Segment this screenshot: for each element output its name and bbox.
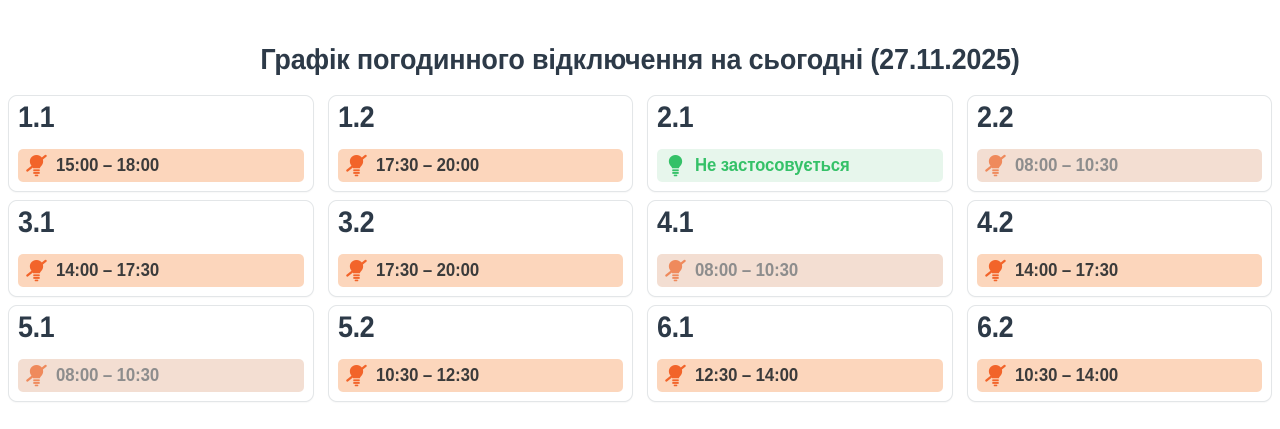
group-label: 3.1 — [18, 208, 275, 244]
outage-group-card[interactable]: 4.108:00 – 10:30 — [647, 200, 953, 297]
bulb-off-icon — [26, 364, 47, 387]
bulb-off-icon — [346, 154, 367, 177]
bulb-off-icon — [346, 364, 367, 387]
bulb-off-icon — [985, 364, 1006, 387]
group-label: 6.2 — [977, 313, 1234, 349]
outage-group-card[interactable]: 1.217:30 – 20:00 — [328, 95, 634, 192]
bulb-off-icon — [665, 364, 686, 387]
outage-group-card[interactable]: 2.208:00 – 10:30 — [967, 95, 1273, 192]
outage-time-text: 12:30 – 14:00 — [695, 366, 798, 384]
bulb-off-icon — [985, 259, 1006, 282]
outage-group-card[interactable]: 6.112:30 – 14:00 — [647, 305, 953, 402]
outage-time-text: 10:30 – 12:30 — [376, 366, 479, 384]
group-label: 1.2 — [338, 103, 595, 139]
bulb-off-icon — [665, 259, 686, 282]
outage-time-text: 08:00 – 10:30 — [695, 261, 798, 279]
group-label: 3.2 — [338, 208, 595, 244]
outage-group-card[interactable]: 5.210:30 – 12:30 — [328, 305, 634, 402]
outage-slot[interactable]: 17:30 – 20:00 — [338, 149, 624, 182]
bulb-off-icon — [346, 259, 367, 282]
outage-time-text: 08:00 – 10:30 — [1015, 156, 1118, 174]
outage-group-card[interactable]: 1.115:00 – 18:00 — [8, 95, 314, 192]
bulb-on-icon — [665, 154, 686, 177]
outage-time-text: 17:30 – 20:00 — [376, 261, 479, 279]
bulb-off-icon — [26, 154, 47, 177]
outage-slot[interactable]: 14:00 – 17:30 — [18, 254, 304, 287]
outage-slot[interactable]: 12:30 – 14:00 — [657, 359, 943, 392]
group-label: 5.1 — [18, 313, 275, 349]
outage-time-text: 15:00 – 18:00 — [56, 156, 159, 174]
bulb-off-icon — [985, 154, 1006, 177]
outage-slot[interactable]: 10:30 – 12:30 — [338, 359, 624, 392]
outage-group-card[interactable]: 2.1Не застосовується — [647, 95, 953, 192]
group-label: 5.2 — [338, 313, 595, 349]
outage-time-text: 10:30 – 14:00 — [1015, 366, 1118, 384]
outage-slot[interactable]: 15:00 – 18:00 — [18, 149, 304, 182]
outage-slot[interactable]: 08:00 – 10:30 — [657, 254, 943, 287]
outage-group-card[interactable]: 3.114:00 – 17:30 — [8, 200, 314, 297]
outage-group-card[interactable]: 4.214:00 – 17:30 — [967, 200, 1273, 297]
outage-slot[interactable]: 10:30 – 14:00 — [977, 359, 1263, 392]
group-label: 4.1 — [657, 208, 914, 244]
page-title: Графік погодинного відключення на сьогод… — [45, 19, 1235, 75]
group-label: 6.1 — [657, 313, 914, 349]
outage-slot[interactable]: Не застосовується — [657, 149, 943, 182]
outage-time-text: 17:30 – 20:00 — [376, 156, 479, 174]
outage-group-card[interactable]: 5.108:00 – 10:30 — [8, 305, 314, 402]
outage-time-text: Не застосовується — [695, 156, 850, 174]
outage-time-text: 14:00 – 17:30 — [1015, 261, 1118, 279]
group-label: 1.1 — [18, 103, 275, 139]
group-label: 2.1 — [657, 103, 914, 139]
outage-groups-grid: 1.115:00 – 18:001.217:30 – 20:002.1Не за… — [0, 95, 1280, 402]
outage-group-card[interactable]: 3.217:30 – 20:00 — [328, 200, 634, 297]
outage-slot[interactable]: 14:00 – 17:30 — [977, 254, 1263, 287]
outage-slot[interactable]: 17:30 – 20:00 — [338, 254, 624, 287]
group-label: 2.2 — [977, 103, 1234, 139]
outage-time-text: 14:00 – 17:30 — [56, 261, 159, 279]
outage-group-card[interactable]: 6.210:30 – 14:00 — [967, 305, 1273, 402]
bulb-off-icon — [26, 259, 47, 282]
outage-slot[interactable]: 08:00 – 10:30 — [977, 149, 1263, 182]
group-label: 4.2 — [977, 208, 1234, 244]
outage-schedule-page: Графік погодинного відключення на сьогод… — [0, 19, 1280, 429]
outage-time-text: 08:00 – 10:30 — [56, 366, 159, 384]
outage-slot[interactable]: 08:00 – 10:30 — [18, 359, 304, 392]
